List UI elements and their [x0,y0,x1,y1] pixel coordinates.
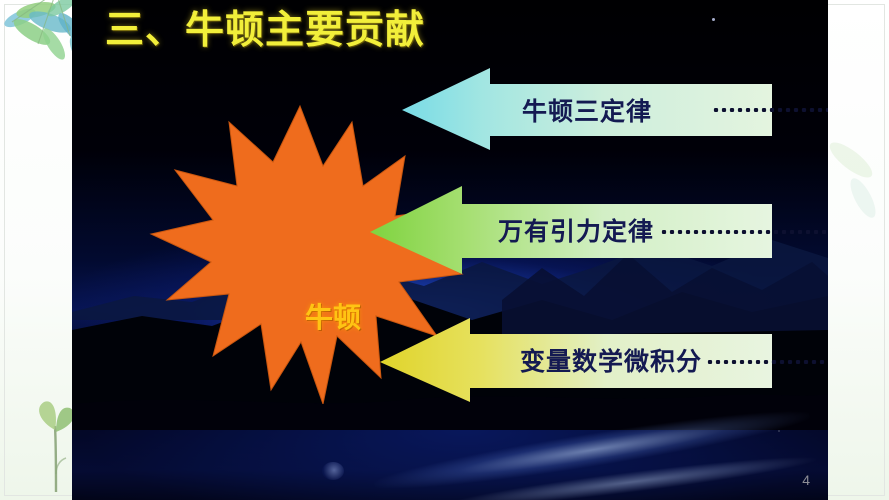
dotted-leader [712,108,828,112]
arrow-label-calculus: 变量数学微积分 [520,342,702,378]
arrow-newton-three-laws[interactable]: 牛顿三定律 [402,68,772,150]
dotted-leader [660,230,828,234]
arrow-calculus[interactable]: 变量数学微积分 [380,318,772,402]
slide-canvas: 三、牛顿主要贡献 牛顿 牛顿三定律 [72,0,828,500]
page-title: 三、牛顿主要贡献 [105,8,425,54]
starburst-label: 牛顿 [305,296,361,336]
page-number: 4 [802,472,810,488]
arrow-label-newton-three-laws: 牛顿三定律 [522,92,652,128]
slide-viewer: 三、牛顿主要贡献 牛顿 牛顿三定律 [0,0,889,500]
dotted-leader [706,360,828,364]
water-glow [322,462,344,480]
arrow-label-universal-gravitation: 万有引力定律 [498,212,654,248]
arrow-universal-gravitation[interactable]: 万有引力定律 [370,186,772,274]
